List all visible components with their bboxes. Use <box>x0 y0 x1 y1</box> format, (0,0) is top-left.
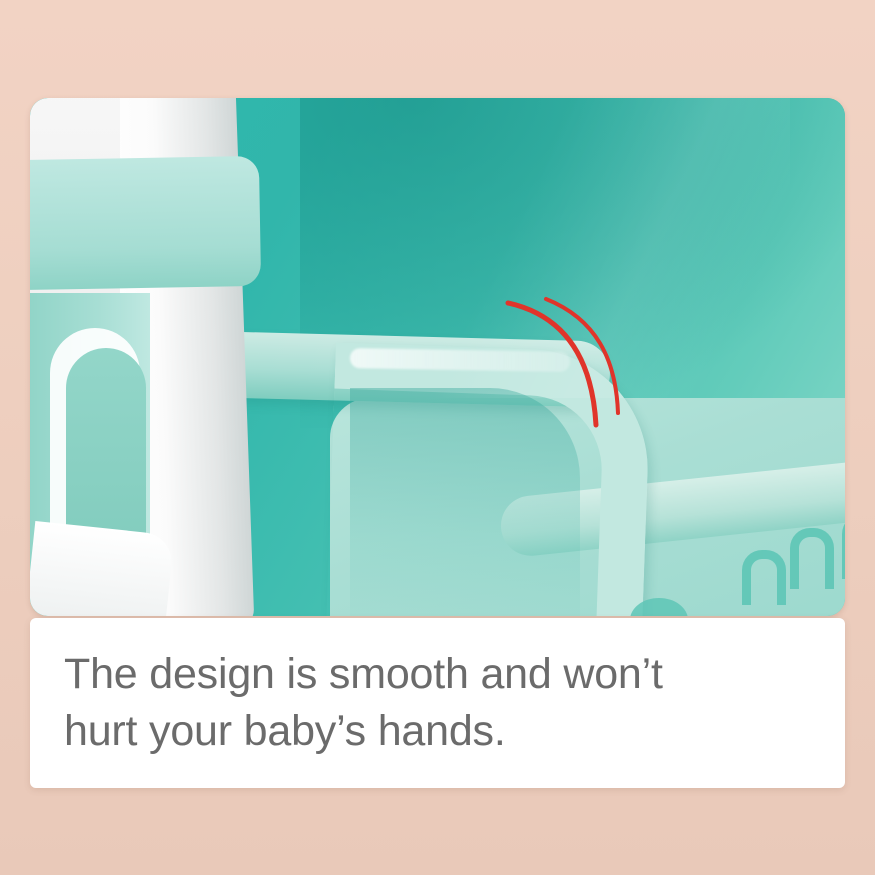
stand-foot-white <box>30 521 175 616</box>
motion-arc-icon <box>500 293 640 463</box>
decor-wave-2 <box>790 528 834 589</box>
tub-edge-mint-top <box>30 156 261 290</box>
decor-wave-1 <box>742 550 786 605</box>
caption-line-2: hurt your baby’s hands. <box>64 703 811 760</box>
product-detail-image: The design is smooth and won’t hurt your… <box>0 0 875 875</box>
caption-line-1: The design is smooth and won’t <box>64 646 811 703</box>
product-photo-card <box>30 98 845 616</box>
caption-card: The design is smooth and won’t hurt your… <box>30 618 845 788</box>
